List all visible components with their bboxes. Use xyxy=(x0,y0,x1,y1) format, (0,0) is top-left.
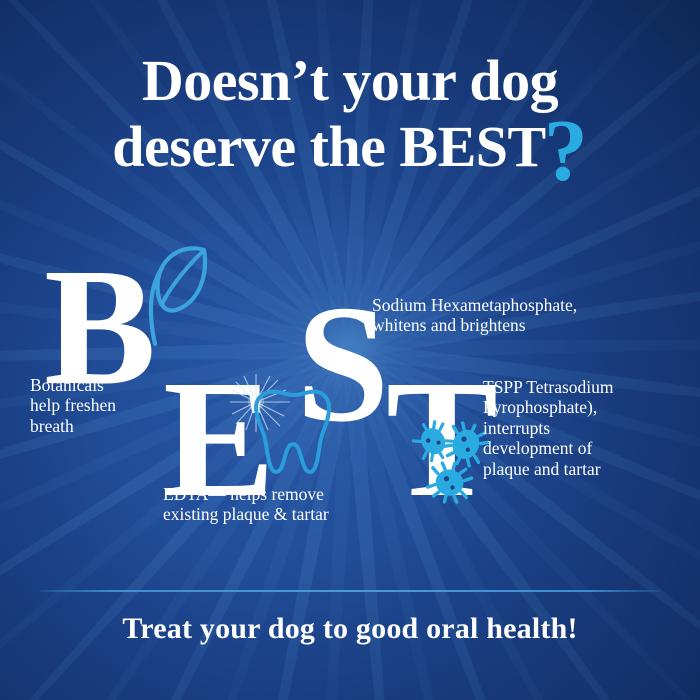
headline-line-1: Doesn’t your dog xyxy=(0,52,700,110)
question-mark: ? xyxy=(544,103,586,200)
headline-line-2: deserve the BEST? xyxy=(0,118,700,176)
headline-line-2-text: deserve the BEST xyxy=(112,114,545,179)
copy-edta: EDTA— helps remove existing plaque & tar… xyxy=(163,484,413,525)
divider xyxy=(40,590,660,592)
page-title: Doesn’t your dog deserve the BEST? xyxy=(0,52,700,176)
copy-tspp: TSPP Tetrasodium Pyrophosphate), interru… xyxy=(483,377,683,479)
copy-sodium-hexametaphosphate: Sodium Hexametaphosphate, whitens and br… xyxy=(372,295,672,336)
footer-tagline: Treat your dog to good oral health! xyxy=(0,612,700,646)
poster: Doesn’t your dog deserve the BEST? B E S… xyxy=(0,0,700,700)
tooth-icon xyxy=(228,372,340,489)
leaf-icon xyxy=(128,240,214,353)
copy-botanicals: Botanicals help freshen breath xyxy=(30,375,190,436)
